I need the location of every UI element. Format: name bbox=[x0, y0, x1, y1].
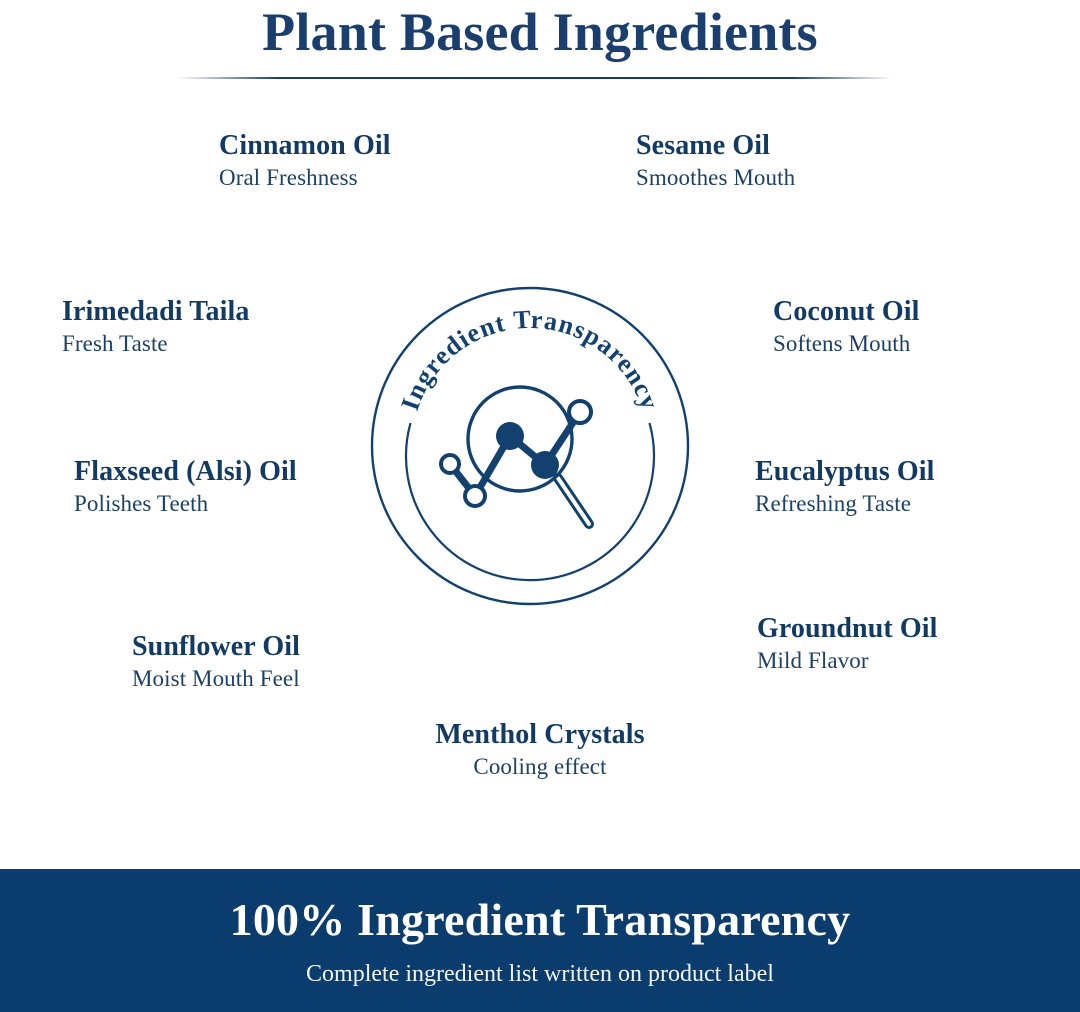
ingredient-description: Smoothes Mouth bbox=[636, 163, 795, 193]
ingredient-name: Flaxseed (Alsi) Oil bbox=[74, 455, 297, 489]
badge-curved-text: Ingredient Transparency bbox=[395, 305, 665, 414]
ingredient-item-groundnut-oil: Groundnut Oil Mild Flavor bbox=[757, 612, 938, 676]
ingredient-transparency-badge: Ingredient Transparency bbox=[365, 281, 695, 611]
ingredient-name: Cinnamon Oil bbox=[219, 129, 391, 163]
analytics-node-filled bbox=[496, 422, 524, 450]
title-divider bbox=[178, 77, 892, 79]
ingredient-item-eucalyptus-oil: Eucalyptus Oil Refreshing Taste bbox=[755, 455, 935, 519]
ingredient-item-irimedadi-taila: Irimedadi Taila Fresh Taste bbox=[62, 295, 249, 359]
badge-outer-ring bbox=[372, 288, 688, 604]
ingredient-description: Oral Freshness bbox=[219, 163, 391, 193]
ingredient-description: Fresh Taste bbox=[62, 329, 249, 359]
magnifier-analytics-icon bbox=[441, 387, 591, 524]
analytics-node-hollow bbox=[465, 486, 485, 506]
ingredient-description: Polishes Teeth bbox=[74, 489, 297, 519]
ingredient-description: Mild Flavor bbox=[757, 646, 938, 676]
ingredient-item-sesame-oil: Sesame Oil Smoothes Mouth bbox=[636, 129, 795, 193]
ingredient-name: Menthol Crystals bbox=[330, 718, 750, 752]
ingredient-name: Groundnut Oil bbox=[757, 612, 938, 646]
ingredient-description: Cooling effect bbox=[330, 752, 750, 782]
page-title: Plant Based Ingredients bbox=[0, 0, 1080, 66]
banner-title: 100% Ingredient Transparency bbox=[0, 891, 1080, 949]
bottom-banner: 100% Ingredient Transparency Complete in… bbox=[0, 869, 1080, 1012]
ingredient-name: Irimedadi Taila bbox=[62, 295, 249, 329]
analytics-node-filled bbox=[531, 451, 559, 479]
ingredient-description: Moist Mouth Feel bbox=[132, 664, 300, 694]
banner-subtitle: Complete ingredient list written on prod… bbox=[0, 958, 1080, 990]
analytics-node-hollow bbox=[441, 455, 459, 473]
ingredient-name: Sunflower Oil bbox=[132, 630, 300, 664]
badge-inner-arc bbox=[406, 423, 654, 580]
ingredient-item-flaxseed-alsi-oil: Flaxseed (Alsi) Oil Polishes Teeth bbox=[74, 455, 297, 519]
ingredient-item-cinnamon-oil: Cinnamon Oil Oral Freshness bbox=[219, 129, 391, 193]
ingredient-name: Eucalyptus Oil bbox=[755, 455, 935, 489]
ingredient-description: Refreshing Taste bbox=[755, 489, 935, 519]
ingredient-item-coconut-oil: Coconut Oil Softens Mouth bbox=[773, 295, 920, 359]
ingredient-description: Softens Mouth bbox=[773, 329, 920, 359]
magnifier-handle-inner bbox=[558, 478, 589, 524]
ingredient-item-menthol-crystals: Menthol Crystals Cooling effect bbox=[330, 718, 750, 782]
header: Plant Based Ingredients bbox=[0, 0, 1080, 92]
ingredient-name: Coconut Oil bbox=[773, 295, 920, 329]
analytics-node-hollow bbox=[569, 401, 591, 423]
ingredient-item-sunflower-oil: Sunflower Oil Moist Mouth Feel bbox=[132, 630, 300, 694]
ingredient-name: Sesame Oil bbox=[636, 129, 795, 163]
